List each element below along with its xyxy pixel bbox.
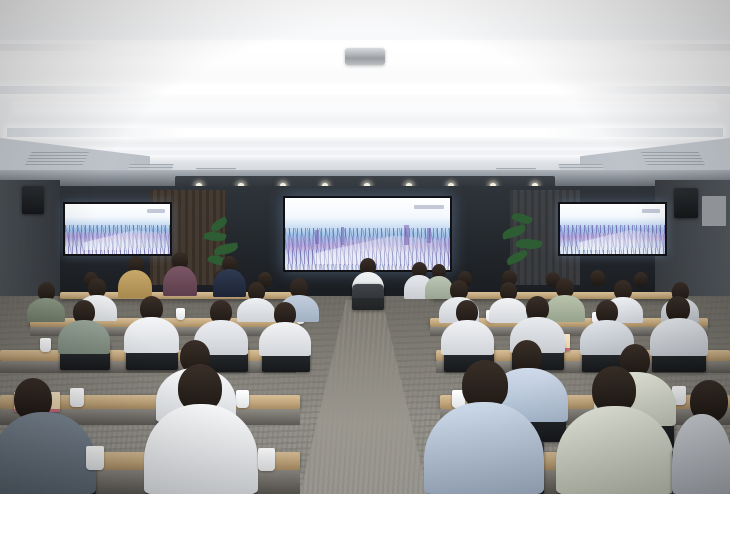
attendee-body bbox=[27, 298, 65, 322]
ceiling-projector-icon bbox=[345, 48, 385, 65]
attendee-body bbox=[118, 270, 152, 298]
attendee-body bbox=[545, 295, 585, 322]
attendee-body bbox=[259, 322, 311, 356]
screen-building bbox=[427, 228, 431, 243]
left-led-screen[interactable] bbox=[63, 202, 172, 256]
teacup bbox=[236, 390, 249, 408]
teacup bbox=[86, 446, 104, 470]
right-led-screen[interactable] bbox=[558, 202, 667, 256]
teacup bbox=[70, 388, 84, 407]
wall-speaker-right bbox=[674, 188, 698, 218]
chair bbox=[352, 284, 384, 310]
ceiling-slab bbox=[0, 0, 730, 40]
ceiling-vent bbox=[641, 152, 705, 165]
attendee-body bbox=[441, 320, 494, 355]
potted-plant-right bbox=[500, 212, 550, 278]
attendee-head bbox=[590, 270, 605, 286]
wall-speaker-left bbox=[22, 186, 44, 214]
attendee-body bbox=[58, 320, 110, 354]
screen-watermark bbox=[642, 209, 660, 213]
ceiling bbox=[0, 0, 730, 186]
conference-room-photo: 姓名 姓名 bbox=[0, 0, 730, 494]
attendee-body bbox=[163, 266, 197, 296]
screen-building bbox=[404, 225, 409, 245]
attendee-body bbox=[237, 298, 275, 322]
screen-watermark bbox=[147, 209, 165, 213]
photo-page: 姓名 姓名 bbox=[0, 0, 730, 548]
attendee-body bbox=[489, 298, 527, 323]
ceiling-light-strip-5 bbox=[7, 128, 722, 137]
attendee-body bbox=[672, 414, 730, 494]
teacup bbox=[258, 448, 275, 471]
screen-building bbox=[315, 230, 319, 244]
screen-building bbox=[341, 227, 344, 245]
attendee-body bbox=[213, 269, 246, 297]
teacup bbox=[176, 308, 185, 320]
photo-caption-area: Conference room meeting photograph bbox=[0, 494, 730, 548]
attendee-body bbox=[425, 276, 453, 299]
screen-watermark bbox=[414, 205, 444, 209]
attendee-head bbox=[634, 272, 648, 287]
attendee-body bbox=[650, 318, 708, 356]
ceiling-light-strip-3 bbox=[0, 86, 730, 94]
ceiling-light-strip-4 bbox=[15, 104, 716, 109]
teacup bbox=[40, 338, 51, 352]
wall-sign-right bbox=[702, 196, 726, 226]
ceiling-vent bbox=[25, 152, 89, 165]
attendee-body bbox=[124, 317, 179, 353]
